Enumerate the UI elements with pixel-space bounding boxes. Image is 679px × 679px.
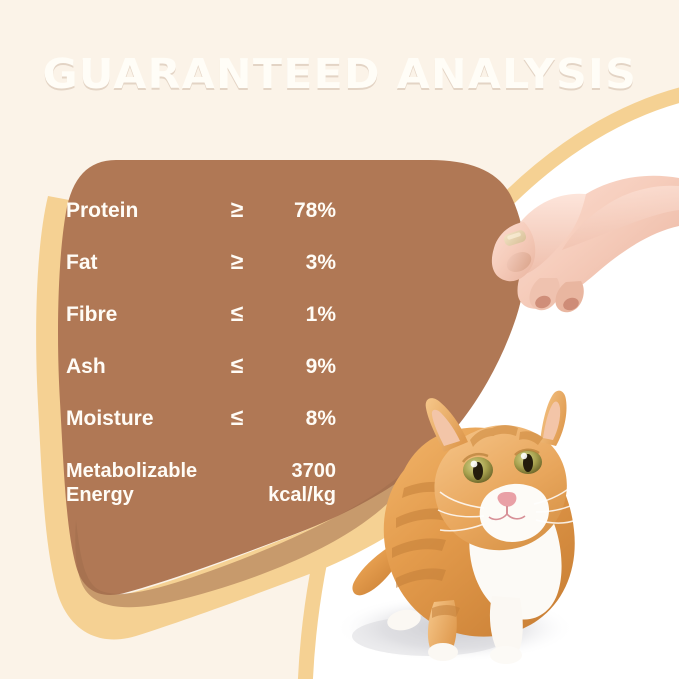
nutrient-value: 1% [258,303,336,328]
table-row-energy: Metabolizable Energy 3700 kcal/kg [66,460,336,507]
product-label-panel: GUARANTEED ANALYSIS Protein ≥ 78% Fat ≥ … [0,0,679,679]
nutrient-name: Ash [66,355,216,380]
comparison-operator: ≤ [216,404,258,431]
nutrient-name: Fibre [66,303,216,328]
comparison-operator: ≤ [216,352,258,379]
guaranteed-analysis-table: Protein ≥ 78% Fat ≥ 3% Fibre ≤ 1% Ash ≤ … [66,196,336,507]
comparison-operator: ≥ [216,196,258,223]
nutrient-value: 3700 kcal/kg [224,460,336,507]
nutrient-name: Moisture [66,407,216,432]
nutrient-value: 8% [258,407,336,432]
nutrient-name: Protein [66,199,216,224]
table-row: Protein ≥ 78% [66,196,336,248]
table-row: Moisture ≤ 8% [66,404,336,456]
table-row: Ash ≤ 9% [66,352,336,404]
nutrient-name: Fat [66,251,216,276]
nutrient-value: 9% [258,355,336,380]
comparison-operator: ≥ [216,248,258,275]
table-row: Fibre ≤ 1% [66,300,336,352]
nutrient-value: 78% [258,199,336,224]
comparison-operator: ≤ [216,300,258,327]
table-row: Fat ≥ 3% [66,248,336,300]
nutrient-name: Metabolizable Energy [66,460,224,507]
nutrient-value: 3% [258,251,336,276]
